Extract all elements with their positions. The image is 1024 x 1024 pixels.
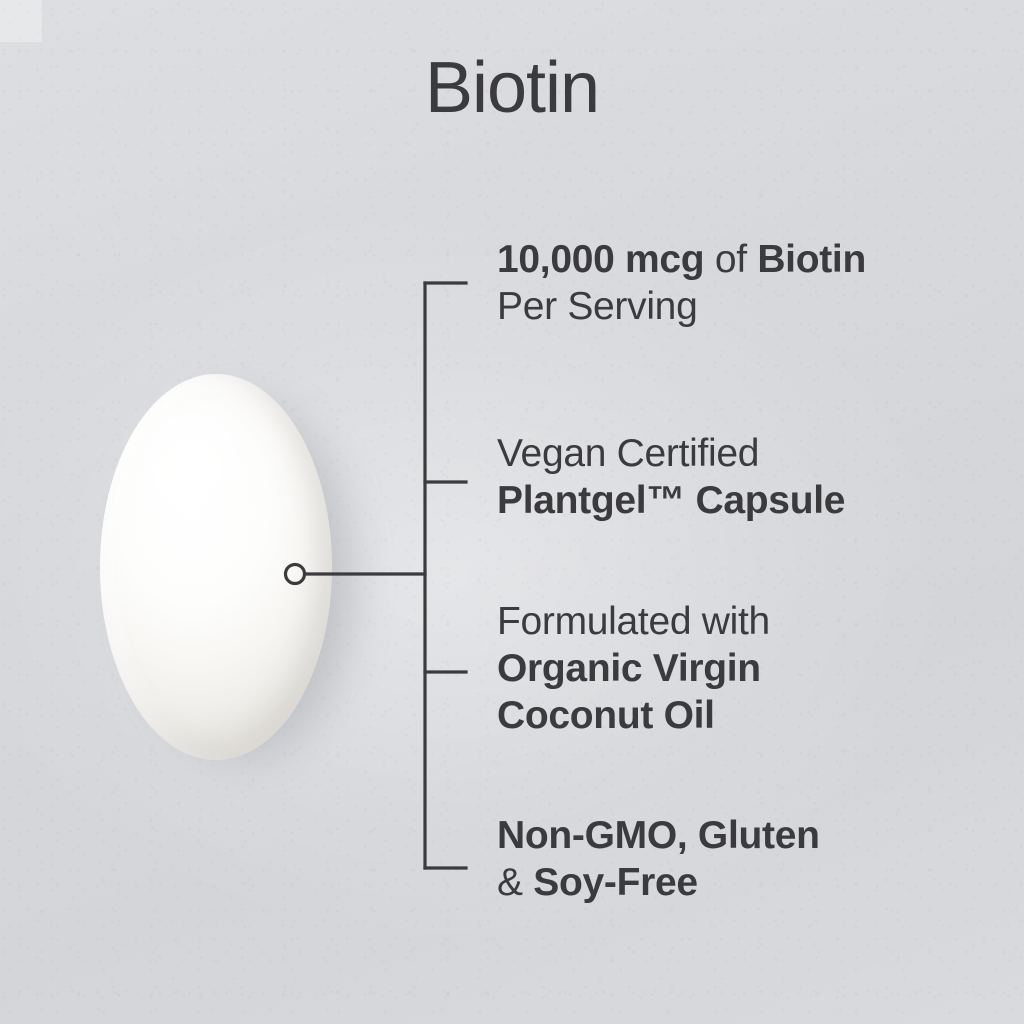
feature-text: Soy-Free bbox=[533, 861, 698, 904]
feature-text: Plantgel™ Capsule bbox=[497, 479, 845, 522]
feature-capsule-type: Vegan Certified Plantgel™ Capsule bbox=[497, 430, 845, 524]
feature-line: 10,000 mcg of Biotin bbox=[497, 236, 866, 283]
feature-line: Organic Virgin bbox=[497, 645, 770, 692]
feature-dosage: 10,000 mcg of Biotin Per Serving bbox=[497, 236, 866, 330]
feature-free-from: Non-GMO, Gluten & Soy-Free bbox=[497, 812, 820, 906]
capsule-highlight bbox=[136, 408, 256, 558]
feature-text: Formulated with bbox=[497, 600, 770, 643]
feature-text: Coconut Oil bbox=[497, 694, 715, 737]
feature-line: Non-GMO, Gluten bbox=[497, 812, 820, 859]
feature-text: Vegan Certified bbox=[497, 432, 759, 475]
feature-line: & Soy-Free bbox=[497, 859, 820, 906]
corner-light-patch bbox=[0, 0, 42, 42]
page-title: Biotin bbox=[0, 52, 1024, 124]
feature-line: Plantgel™ Capsule bbox=[497, 477, 845, 524]
feature-line: Per Serving bbox=[497, 283, 866, 330]
feature-text: Biotin bbox=[757, 238, 866, 281]
capsule-photo bbox=[96, 372, 336, 764]
feature-line: Coconut Oil bbox=[497, 692, 770, 739]
feature-text: Per Serving bbox=[497, 285, 697, 328]
feature-line: Vegan Certified bbox=[497, 430, 845, 477]
feature-text: of bbox=[704, 238, 757, 281]
feature-text: Non-GMO, Gluten bbox=[497, 814, 820, 857]
feature-line: Formulated with bbox=[497, 598, 770, 645]
product-infographic: Biotin 10,000 mcg of Biotin Per Se bbox=[0, 0, 1024, 1024]
feature-text: & bbox=[497, 861, 533, 904]
capsule-body bbox=[100, 374, 332, 760]
feature-formulation: Formulated with Organic Virgin Coconut O… bbox=[497, 598, 770, 739]
feature-text: Organic Virgin bbox=[497, 647, 761, 690]
feature-text: 10,000 mcg bbox=[497, 238, 704, 281]
